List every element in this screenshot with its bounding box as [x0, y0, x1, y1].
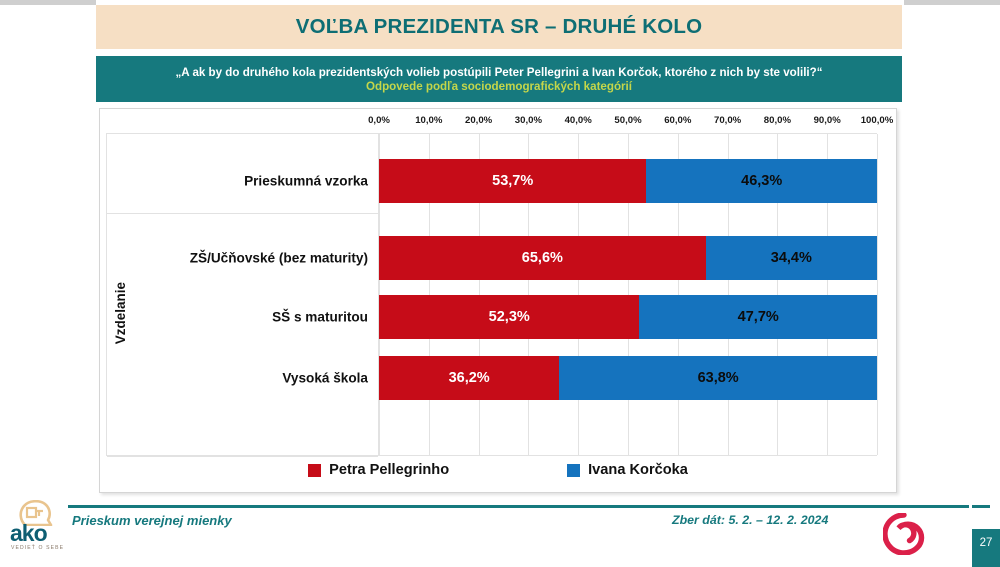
- logo-tagline: VEDIEŤ O SEBE: [11, 545, 64, 551]
- chart-panel: 0,0%10,0%20,0%30,0%40,0%50,0%60,0%70,0%8…: [99, 108, 897, 493]
- group-axis-label: Vzdelanie: [113, 282, 128, 344]
- plot-area: Vzdelanie Prieskumná vzorkaZŠ/Učňovské (…: [106, 133, 877, 456]
- gridline: [877, 134, 878, 455]
- ako-logo: ako VEDIEŤ O SEBE: [6, 500, 68, 562]
- spiral-swirl-icon: [883, 513, 925, 555]
- survey-question: „A ak by do druhého kola prezidentských …: [175, 66, 822, 79]
- chart-subtitle: Odpovede podľa sociodemografických kateg…: [366, 80, 632, 93]
- bar-row: 52,3%47,7%: [379, 295, 877, 339]
- category-label: SŠ s maturitou: [272, 310, 368, 325]
- x-axis-tick-labels: 0,0%10,0%20,0%30,0%40,0%50,0%60,0%70,0%8…: [100, 115, 896, 131]
- bar-value-label: 47,7%: [738, 309, 779, 325]
- x-axis-tick-label: 80,0%: [764, 115, 791, 126]
- title-banner: VOĽBA PREZIDENTA SR – DRUHÉ KOLO: [96, 5, 902, 49]
- bar-value-label: 52,3%: [489, 309, 530, 325]
- bar-segment[interactable]: 65,6%: [379, 236, 706, 280]
- page-number: 27: [980, 537, 993, 549]
- footer-divider: [68, 505, 990, 508]
- bar-value-label: 65,6%: [522, 250, 563, 266]
- page-title: VOĽBA PREZIDENTA SR – DRUHÉ KOLO: [296, 15, 703, 39]
- x-axis-tick-label: 60,0%: [664, 115, 691, 126]
- x-axis-tick-label: 100,0%: [861, 115, 894, 126]
- category-label-column: Vzdelanie Prieskumná vzorkaZŠ/Učňovské (…: [107, 134, 379, 455]
- x-axis-tick-label: 50,0%: [614, 115, 641, 126]
- category-label: Prieskumná vzorka: [244, 174, 368, 189]
- bar-segment[interactable]: 63,8%: [559, 356, 877, 400]
- bar-row: 36,2%63,8%: [379, 356, 877, 400]
- legend-swatch-icon: [567, 464, 580, 477]
- bars-area: 53,7%46,3%65,6%34,4%52,3%47,7%36,2%63,8%: [379, 134, 877, 455]
- legend-item[interactable]: Petra Pellegrinho: [308, 462, 449, 478]
- group-divider-top: [107, 213, 378, 214]
- group-divider-bottom: [107, 456, 378, 457]
- question-banner: „A ak by do druhého kola prezidentských …: [96, 56, 902, 102]
- x-axis-tick-label: 0,0%: [368, 115, 390, 126]
- bar-segment[interactable]: 52,3%: [379, 295, 639, 339]
- slide-edge-band-left: [0, 0, 96, 5]
- category-label: Vysoká škola: [282, 371, 368, 386]
- bar-value-label: 63,8%: [698, 370, 739, 386]
- page-number-chip: 27: [972, 529, 1000, 567]
- legend-item[interactable]: Ivana Korčoka: [567, 462, 688, 478]
- legend-swatch-icon: [308, 464, 321, 477]
- x-axis-tick-label: 20,0%: [465, 115, 492, 126]
- category-label: ZŠ/Učňovské (bez maturity): [190, 251, 368, 266]
- footer-right-label: Zber dát: 5. 2. – 12. 2. 2024: [672, 513, 828, 527]
- x-axis-tick-label: 40,0%: [565, 115, 592, 126]
- slide-canvas: VOĽBA PREZIDENTA SR – DRUHÉ KOLO „A ak b…: [0, 0, 1000, 567]
- x-axis-tick-label: 70,0%: [714, 115, 741, 126]
- bar-segment[interactable]: 53,7%: [379, 159, 646, 203]
- bar-segment[interactable]: 34,4%: [706, 236, 877, 280]
- bar-value-label: 46,3%: [741, 173, 782, 189]
- slide-edge-band-right: [904, 0, 1000, 5]
- x-axis-tick-label: 30,0%: [515, 115, 542, 126]
- bar-row: 53,7%46,3%: [379, 159, 877, 203]
- bar-segment[interactable]: 46,3%: [646, 159, 877, 203]
- bar-segment[interactable]: 36,2%: [379, 356, 559, 400]
- bar-row: 65,6%34,4%: [379, 236, 877, 280]
- bar-value-label: 36,2%: [449, 370, 490, 386]
- x-axis-tick-label: 90,0%: [814, 115, 841, 126]
- bar-value-label: 34,4%: [771, 250, 812, 266]
- footer-left-label: Prieskum verejnej mienky: [72, 513, 232, 528]
- legend-label: Ivana Korčoka: [588, 462, 688, 478]
- chart-legend: Petra PellegrinhoIvana Korčoka: [100, 462, 896, 478]
- bar-value-label: 53,7%: [492, 173, 533, 189]
- logo-wordmark: ako: [10, 522, 66, 545]
- legend-label: Petra Pellegrinho: [329, 462, 449, 478]
- bar-segment[interactable]: 47,7%: [639, 295, 877, 339]
- x-axis-tick-label: 10,0%: [415, 115, 442, 126]
